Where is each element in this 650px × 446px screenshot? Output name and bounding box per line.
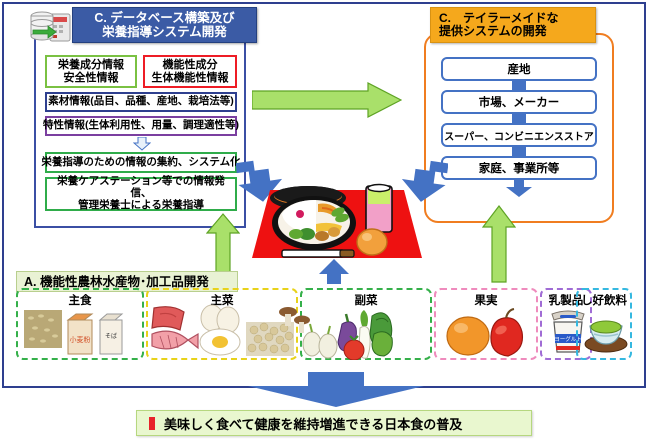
box-market-maker: 市場、メーカー (441, 90, 597, 114)
side-dish-items (274, 302, 432, 360)
fruit-items (444, 306, 532, 358)
box-supermarket-convenience: スーパー、コンビニエンスストア (441, 123, 597, 147)
food-category-side-dish: 副菜 (300, 288, 432, 360)
right-header-line2: 提供システムの開発 (439, 25, 559, 38)
diagram-root: C. データベース構築及び 栄養指導システム開発 栄養成分情報 安全性情報 機能… (0, 0, 650, 446)
database-icon (28, 8, 72, 48)
banner-bullet-icon (149, 417, 155, 430)
left-header-line2: 栄養指導システム開発 (94, 25, 234, 39)
green-up-arrow-right (482, 205, 516, 283)
blue-down-arrow-bottom (246, 372, 426, 408)
food-category-staple-food: 主食 小麦粉 そば (16, 288, 144, 360)
box-character-info: 特性情報(生体利用性、用量、調理適性等) (45, 116, 237, 136)
beverage-items (582, 308, 630, 356)
box-system-info: 栄養指導のための情報の集約、システム化 (45, 152, 237, 173)
right-panel-header: C. テイラーメイドな 提供システムの開発 (430, 7, 596, 43)
small-down-arrow (133, 137, 151, 151)
box-household-business: 家庭、事業所等 (441, 156, 597, 180)
svg-text:そば: そば (105, 332, 117, 340)
care-station-line1: 栄養ケアステーション等での情報発信、 (47, 176, 235, 200)
left-header-line1: C. データベース構築及び (94, 11, 234, 25)
bottom-banner: 美味しく食べて健康を維持増進できる日本食の普及 (136, 410, 532, 436)
food-category-fruit: 果実 (434, 288, 538, 360)
beverage-label: し好飲料 (578, 292, 630, 308)
box-care-station: 栄養ケアステーション等での情報発信、 管理栄養士による栄養指導 (45, 177, 237, 211)
green-right-arrow (252, 82, 402, 118)
right-panel-down-arrow (505, 180, 533, 198)
banner-text: 美味しく食べて健康を維持増進できる日本食の普及 (164, 414, 462, 433)
left-panel-header: C. データベース構築及び 栄養指導システム開発 (72, 7, 257, 43)
svg-text:小麦粉: 小麦粉 (70, 335, 91, 344)
nutrition-info-line2: 安全性情報 (58, 72, 124, 84)
box-functional-info: 機能性成分 生体機能性情報 (143, 55, 237, 88)
box-material-info: 素材情報(品目、品種、産地、栽培法等) (45, 92, 237, 112)
green-up-arrow-left (206, 213, 240, 273)
right-header-line1: C. テイラーメイドな (439, 12, 559, 25)
box-nutrition-info: 栄養成分情報 安全性情報 (45, 55, 137, 88)
box-production-area: 産地 (441, 57, 597, 81)
nutrition-info-line1: 栄養成分情報 (58, 59, 124, 71)
bento-meal-illustration (252, 168, 422, 262)
care-station-line2: 管理栄養士による栄養指導 (47, 200, 235, 212)
functional-info-line1: 機能性成分 (152, 59, 229, 71)
functional-info-line2: 生体機能性情報 (152, 72, 229, 84)
food-category-beverage: し好飲料 (576, 288, 632, 360)
staple-food-items: 小麦粉 そば (22, 306, 142, 358)
